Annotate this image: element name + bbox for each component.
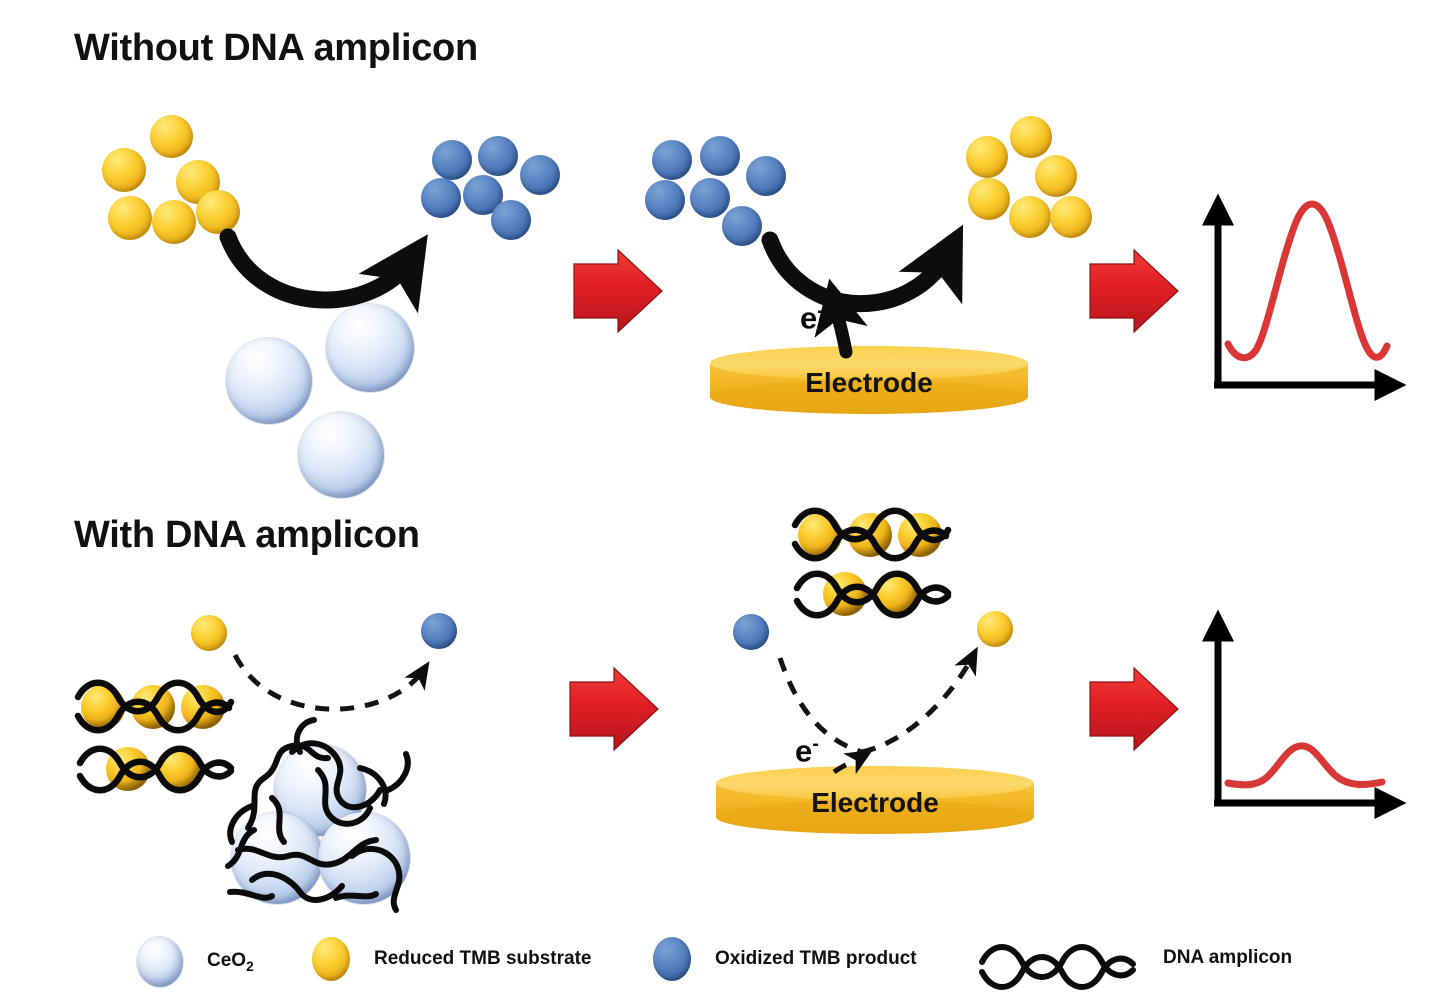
dna-amplicon-electrode-1 — [795, 511, 948, 559]
legend-item-ceo2: CeO2 — [137, 937, 254, 987]
signal-chart-without — [1214, 204, 1392, 388]
electrode-with: Electrode — [716, 766, 1034, 834]
dna-amplicon-lower-left-2 — [80, 747, 231, 791]
legend-label-reduced-tmb: Reduced TMB substrate — [374, 948, 591, 970]
yellow-sphere — [1010, 116, 1052, 158]
dna-amplicon-lower-left-1 — [78, 683, 231, 731]
yellow-sphere-icon — [312, 937, 350, 981]
row-title-with-dna-amplicon: With DNA amplicon — [74, 514, 420, 557]
blue-sphere — [645, 180, 685, 220]
dna-amplicon-electrode-2 — [797, 572, 948, 616]
yellow-sphere — [1035, 155, 1077, 197]
signal-curve-without — [1228, 204, 1387, 358]
figure-canvas: Without DNA amplicon With DNA amplicon — [0, 0, 1441, 996]
electron-label-text: e — [800, 300, 817, 335]
blue-sphere — [722, 206, 762, 246]
legend-label-ceo2: CeO2 — [207, 950, 254, 974]
electrode-without: Electrode — [710, 346, 1028, 414]
ceo2-sphere — [298, 412, 384, 498]
blue-sphere — [421, 613, 457, 649]
blue-sphere — [690, 178, 730, 218]
yellow-sphere — [968, 178, 1010, 220]
legend-label-dna-amplicon: DNA amplicon — [1163, 947, 1292, 969]
legend-label-ceo2-text: CeO — [207, 950, 246, 971]
signal-curve-with — [1228, 746, 1382, 785]
yellow-sphere — [196, 190, 240, 234]
electrode-label: Electrode — [716, 783, 1034, 823]
electrode-reaction-arrow-without — [770, 240, 950, 352]
legend-label-oxidized-tmb: Oxidized TMB product — [715, 948, 917, 970]
electron-label-without: e- — [800, 300, 824, 336]
electron-label-text: e — [795, 733, 812, 768]
flow-arrow-row1-2 — [1090, 250, 1178, 332]
yellow-sphere — [977, 611, 1013, 647]
flow-arrow-row1-1 — [574, 250, 662, 332]
blue-sphere — [421, 178, 461, 218]
blue-sphere — [520, 155, 560, 195]
blue-sphere — [700, 136, 740, 176]
legend-label-ceo2-subscript: 2 — [246, 959, 254, 974]
legend: CeO2 Reduced TMB substrate Oxidized TMB … — [0, 925, 1441, 996]
yellow-sphere — [1009, 196, 1051, 238]
yellow-sphere — [1050, 196, 1092, 238]
reaction-arrow-without — [228, 237, 412, 300]
row-title-without-dna-amplicon: Without DNA amplicon — [74, 27, 478, 70]
blue-sphere — [652, 140, 692, 180]
electron-label-with: e- — [795, 733, 819, 769]
flow-arrow-row2-1 — [570, 668, 658, 750]
blue-sphere — [432, 140, 472, 180]
electron-label-superscript: - — [812, 733, 819, 755]
yellow-sphere — [108, 196, 152, 240]
reaction-arrow-with — [235, 655, 425, 709]
yellow-sphere — [102, 148, 146, 192]
blue-sphere — [746, 156, 786, 196]
legend-item-oxidized-tmb: Oxidized TMB product — [653, 937, 917, 981]
ceo2-sphere — [231, 812, 323, 904]
blue-sphere — [491, 200, 531, 240]
blue-sphere — [478, 136, 518, 176]
ceo2-sphere-icon — [137, 937, 183, 987]
blue-sphere-icon — [653, 937, 691, 981]
blue-sphere — [733, 614, 769, 650]
yellow-sphere — [191, 615, 227, 651]
yellow-sphere — [152, 200, 196, 244]
electron-label-superscript: - — [817, 300, 824, 322]
ceo2-sphere — [326, 304, 414, 392]
ceo2-sphere — [226, 338, 312, 424]
yellow-sphere — [150, 115, 193, 158]
electrode-label: Electrode — [710, 363, 1028, 403]
legend-item-reduced-tmb: Reduced TMB substrate — [312, 937, 591, 981]
signal-chart-with — [1214, 624, 1392, 806]
flow-arrow-row2-2 — [1090, 668, 1178, 750]
yellow-sphere — [966, 136, 1008, 178]
legend-item-dna-amplicon: DNA amplicon — [1163, 947, 1292, 969]
ceo2-sphere — [318, 812, 410, 904]
